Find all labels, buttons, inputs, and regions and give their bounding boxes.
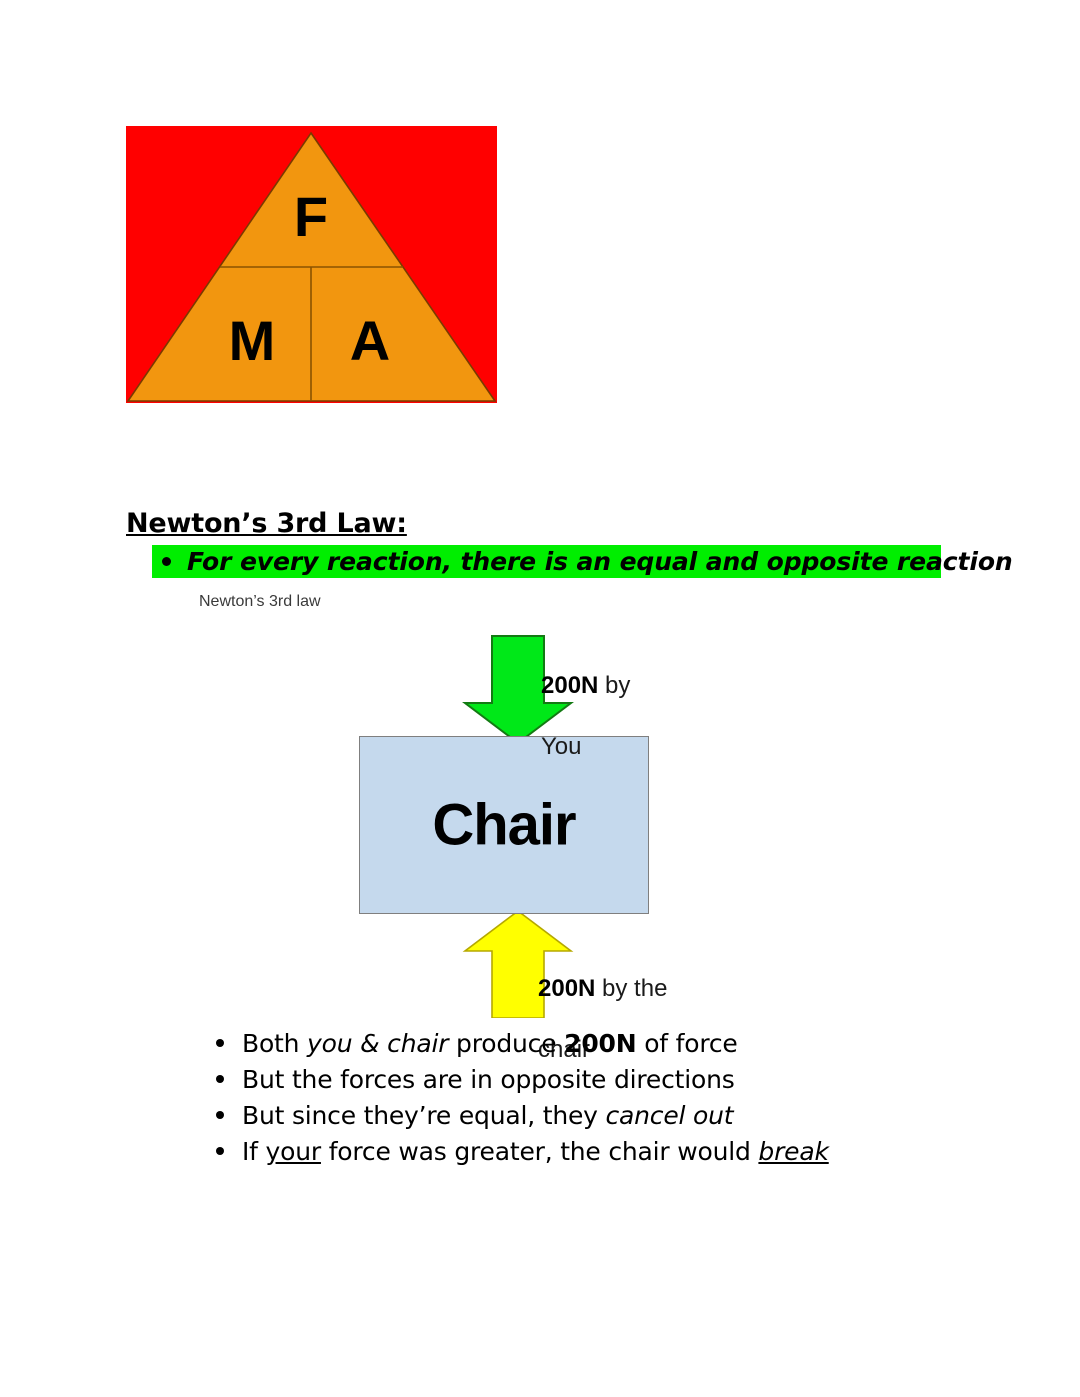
bullet-icon (216, 1147, 224, 1155)
down-force-label: 200N by You (541, 640, 630, 763)
triangle-label-acceleration: A (350, 309, 390, 372)
list-item-label: Both you & chair produce 200N of force (242, 1029, 738, 1058)
list-item: But the forces are in opposite direction… (216, 1065, 976, 1101)
list-item: If your force was greater, the chair wou… (216, 1137, 976, 1173)
list-item-label: But since they’re equal, they cancel out (242, 1101, 733, 1130)
conclusion-list: Both you & chair produce 200N of forceBu… (216, 1029, 976, 1173)
up-force-value: 200N (538, 975, 595, 1002)
chair-box-label: Chair (360, 792, 648, 859)
force-triangle-svg: F M A (126, 126, 497, 403)
law-statement-text: For every reaction, there is an equal an… (187, 547, 1013, 576)
down-force-agent-line2: You (541, 733, 582, 760)
highlighted-law-statement: For every reaction, there is an equal an… (152, 545, 941, 578)
list-item: Both you & chair produce 200N of force (216, 1029, 976, 1065)
bullet-icon (216, 1039, 224, 1047)
list-item-label: If your force was greater, the chair wou… (242, 1137, 829, 1166)
triangle-label-force: F (294, 185, 328, 248)
bullet-icon (162, 557, 171, 566)
list-item-label: But the forces are in opposite direction… (242, 1065, 735, 1094)
list-item: But since they’re equal, they cancel out (216, 1101, 976, 1137)
chair-force-diagram: Newton’s 3rd law Chair 200N by You 200N … (186, 588, 726, 1018)
bullet-icon (216, 1111, 224, 1119)
down-force-value: 200N (541, 672, 598, 699)
triangle-label-mass: M (229, 309, 276, 372)
up-force-agent-line1: by the (595, 975, 667, 1002)
down-force-agent-line1: by (598, 672, 630, 699)
bullet-icon (216, 1075, 224, 1083)
page-title: Newton’s 3rd Law: (126, 508, 407, 539)
force-triangle-image: F M A (126, 126, 497, 403)
